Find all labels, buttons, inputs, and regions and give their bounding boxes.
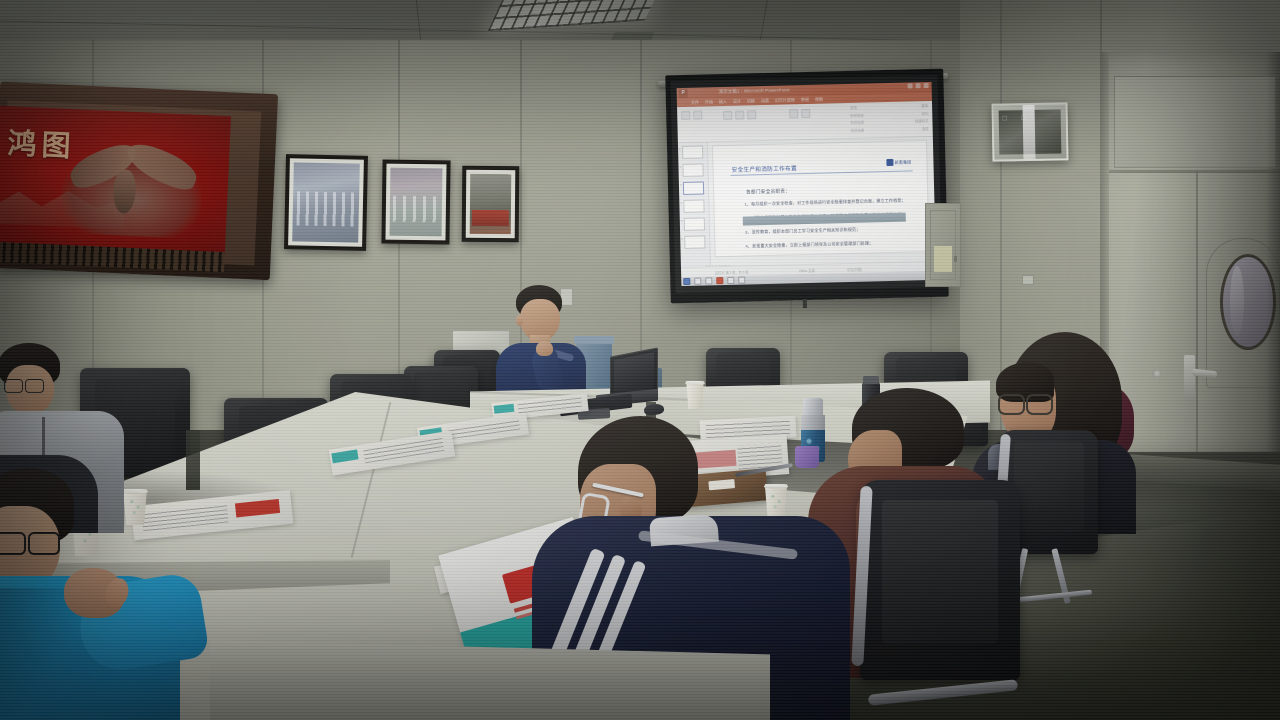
framed-cityscape-print-1	[284, 154, 368, 251]
projection-screen[interactable]: P 演示文稿1 - Microsoft PowerPoint 文件 开始 插入 …	[665, 69, 948, 304]
logo-text: 新奥集团	[895, 159, 912, 165]
wall-mounted-glass-notice-case: ▫ ▫	[991, 102, 1068, 161]
powerpoint-window[interactable]: P 演示文稿1 - Microsoft PowerPoint 文件 开始 插入 …	[677, 82, 937, 286]
tab-file[interactable]: 文件	[691, 100, 699, 106]
wall-electrical-junction-panel	[925, 203, 961, 287]
slide-bullet-3[interactable]: 3、宣传教育，组织本部门员工学习安全生产相关知识和规范；	[745, 225, 914, 235]
tab-transitions[interactable]: 切换	[747, 98, 755, 104]
maximize-icon[interactable]	[916, 83, 921, 88]
start-orb-icon[interactable]	[683, 278, 690, 285]
new-slide-button[interactable]	[693, 111, 702, 120]
slide-thumbnail-3[interactable]	[683, 182, 704, 196]
align-button[interactable]	[789, 109, 798, 118]
eyeglasses	[0, 532, 60, 552]
window-controls[interactable]	[908, 83, 929, 89]
slide-thumbnail-4[interactable]	[683, 200, 704, 214]
wall-outlet-plate	[1022, 275, 1034, 285]
screen-pull-tab[interactable]	[803, 299, 807, 308]
status-language: 中文(中国)	[847, 267, 862, 272]
powerpoint-window-title: 演示文稿1 - Microsoft PowerPoint	[719, 87, 790, 95]
tab-insert[interactable]: 插入	[719, 99, 727, 105]
ribbon-label-shape-fill[interactable]: 形状填充	[850, 112, 864, 117]
status-slide-indicator: 幻灯片 第 3 张，共 6 张	[715, 269, 749, 275]
word-icon[interactable]	[727, 277, 734, 284]
slide-bullet-5[interactable]: 5、按规范要求上报台账，落实本部门持证岗位人员培训与上岗证有效期，确保证书及时更…	[746, 253, 915, 257]
slide-thumbnail-2[interactable]	[682, 164, 703, 178]
paste-button[interactable]	[681, 111, 690, 120]
logo-mark-icon	[886, 159, 893, 166]
thumb-number-6: 6	[681, 237, 683, 241]
thumb-number-4: 4	[680, 201, 682, 205]
thumb-number-5: 5	[681, 219, 683, 223]
white-paper-cup[interactable]	[684, 381, 706, 409]
framed-landscape-print-3	[462, 166, 520, 242]
slide-thumbnail-1[interactable]	[682, 146, 703, 160]
minimize-icon[interactable]	[908, 83, 913, 88]
slide-logo: 新奥集团	[886, 158, 911, 166]
tab-slideshow[interactable]: 幻灯片放映	[775, 97, 795, 103]
explorer-icon[interactable]	[694, 278, 701, 285]
thumb-number-3: 3	[680, 183, 682, 187]
black-mesh-office-chair[interactable]	[860, 480, 1020, 680]
bold-button[interactable]	[735, 111, 744, 120]
font-button[interactable]	[723, 111, 732, 120]
tab-design[interactable]: 设计	[733, 99, 741, 105]
powerpoint-icon[interactable]	[716, 277, 723, 284]
tab-review[interactable]: 审阅	[801, 97, 809, 103]
folder-icon[interactable]	[705, 277, 712, 284]
door-transom-panel	[1114, 76, 1276, 168]
slide-thumbnail-6[interactable]	[684, 236, 705, 250]
person-foreground-cyan-hoodie	[0, 468, 220, 720]
slide-thumbnail-panel[interactable]: 1 2 3 4 5 6	[678, 142, 711, 267]
thumb-number-2: 2	[679, 165, 681, 169]
slide-title[interactable]: 安全生产和消防工作布置	[731, 164, 797, 174]
slide-canvas[interactable]: 安全生产和消防工作布置 新奥集团 各部门安全员职责： 1、每月组织一次安全检查，…	[712, 140, 930, 257]
ribbon-label-select[interactable]: 选择	[922, 126, 929, 131]
thumb-number-1: 1	[679, 147, 681, 151]
ribbon-right-groups[interactable]: 查找 替换 形状填充 排列 形状轮廓 快速样式 形状效果 选择	[850, 103, 929, 135]
slide-bullet-1[interactable]: 1、每月组织一次安全检查，对工作现场进行安全隐患排查并登记台账，建立工作档案；	[744, 197, 913, 207]
ribbon-label-shape-outline[interactable]: 形状轮廓	[850, 120, 864, 125]
ribbon-label-arrange[interactable]: 排列	[921, 111, 928, 116]
ribbon-label-shape-effects[interactable]: 形状效果	[851, 127, 865, 132]
status-theme: Office 主题	[799, 268, 815, 273]
close-icon[interactable]	[924, 83, 929, 88]
eyeglasses	[4, 379, 46, 391]
shapes-button[interactable]	[801, 109, 810, 118]
framed-cityscape-print-2	[381, 160, 450, 245]
conference-room-photo: 鸿图 P 演示文稿1 - Microsoft PowerPoint	[0, 0, 1280, 720]
eyeglasses	[998, 394, 1052, 412]
door-keyhole[interactable]	[1152, 369, 1162, 378]
media-icon[interactable]	[738, 277, 745, 284]
slide-lead-in-text[interactable]: 各部门安全员职责：	[746, 188, 790, 195]
ribbon-label-replace[interactable]: 替换	[921, 103, 928, 108]
powerpoint-app-icon: P	[679, 89, 688, 98]
ribbon-label-quick-styles[interactable]: 快速样式	[915, 118, 929, 123]
slide-bullet-4[interactable]: 4、发现重大安全隐患，立即上报部门领导及公司安全管理部门处理；	[745, 239, 914, 249]
tab-animations[interactable]: 动画	[761, 98, 769, 104]
tab-home[interactable]: 开始	[705, 99, 713, 105]
red-carved-eagle-plaque: 鸿图	[0, 82, 278, 280]
ribbon-toolbar[interactable]: 查找 替换 形状填充 排列 形状轮廓 快速样式 形状效果 选择	[677, 101, 933, 143]
ribbon-label-find[interactable]: 查找	[850, 105, 857, 110]
slide-thumbnail-5[interactable]	[684, 218, 705, 232]
tab-view[interactable]: 视图	[815, 97, 823, 103]
bullets-button[interactable]	[747, 110, 756, 119]
door-handle-plate	[1184, 355, 1195, 401]
